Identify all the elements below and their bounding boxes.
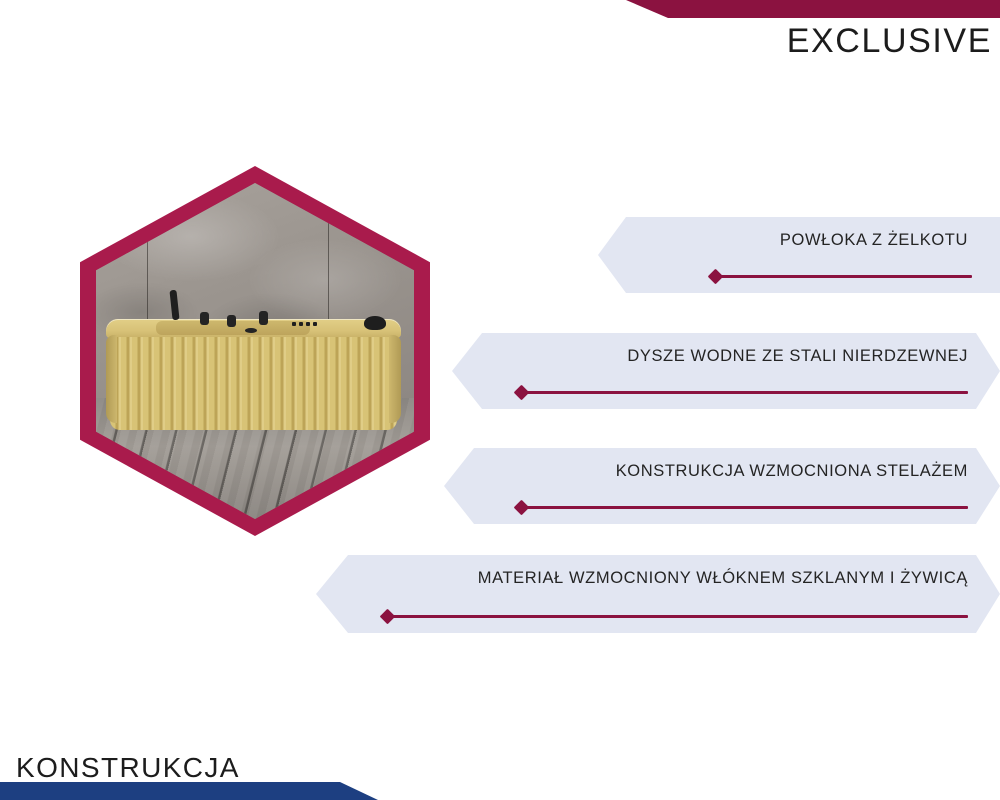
feature-band-1[interactable]: POWŁOKA Z ŻELKOTU (598, 217, 1000, 293)
headrest (364, 316, 386, 330)
tub-side-right (389, 335, 401, 424)
feature-band-3[interactable]: KONSTRUKCJA WZMOCNIONA STELAŻEM (444, 448, 1000, 524)
tub-ribbed-panel (110, 337, 397, 430)
jet-knob-3 (259, 311, 268, 325)
feature-band-4[interactable]: MATERIAŁ WZMOCNIONY WŁÓKNEM SZKLANYM I Ż… (316, 555, 1000, 633)
jet-knob-2 (227, 315, 236, 327)
feature-band-4-label: MATERIAŁ WZMOCNIONY WŁÓKNEM SZKLANYM I Ż… (478, 569, 968, 588)
control-panel-dots (292, 322, 317, 326)
page-title: EXCLUSIVE (787, 22, 992, 61)
feature-band-2-label: DYSZE WODNE ZE STALI NIERDZEWNEJ (627, 347, 968, 366)
feature-band-1-rule (716, 275, 972, 278)
footer-title: KONSTRUKCJA (16, 752, 240, 784)
feature-band-3-rule (522, 506, 968, 509)
jet-knob-1 (200, 312, 209, 325)
footer-accent-bar (0, 782, 378, 800)
tub-side-left (106, 335, 118, 424)
drain-plug (245, 328, 257, 333)
feature-band-2[interactable]: DYSZE WODNE ZE STALI NIERDZEWNEJ (452, 333, 1000, 409)
feature-band-3-label: KONSTRUKCJA WZMOCNIONA STELAŻEM (616, 462, 968, 481)
feature-band-1-label: POWŁOKA Z ŻELKOTU (780, 231, 968, 250)
hot-tub (106, 319, 402, 430)
top-accent-banner (612, 0, 1000, 18)
feature-band-2-rule (522, 391, 968, 394)
hero-image-hexagon (80, 166, 430, 536)
feature-band-4-rule (388, 615, 968, 618)
